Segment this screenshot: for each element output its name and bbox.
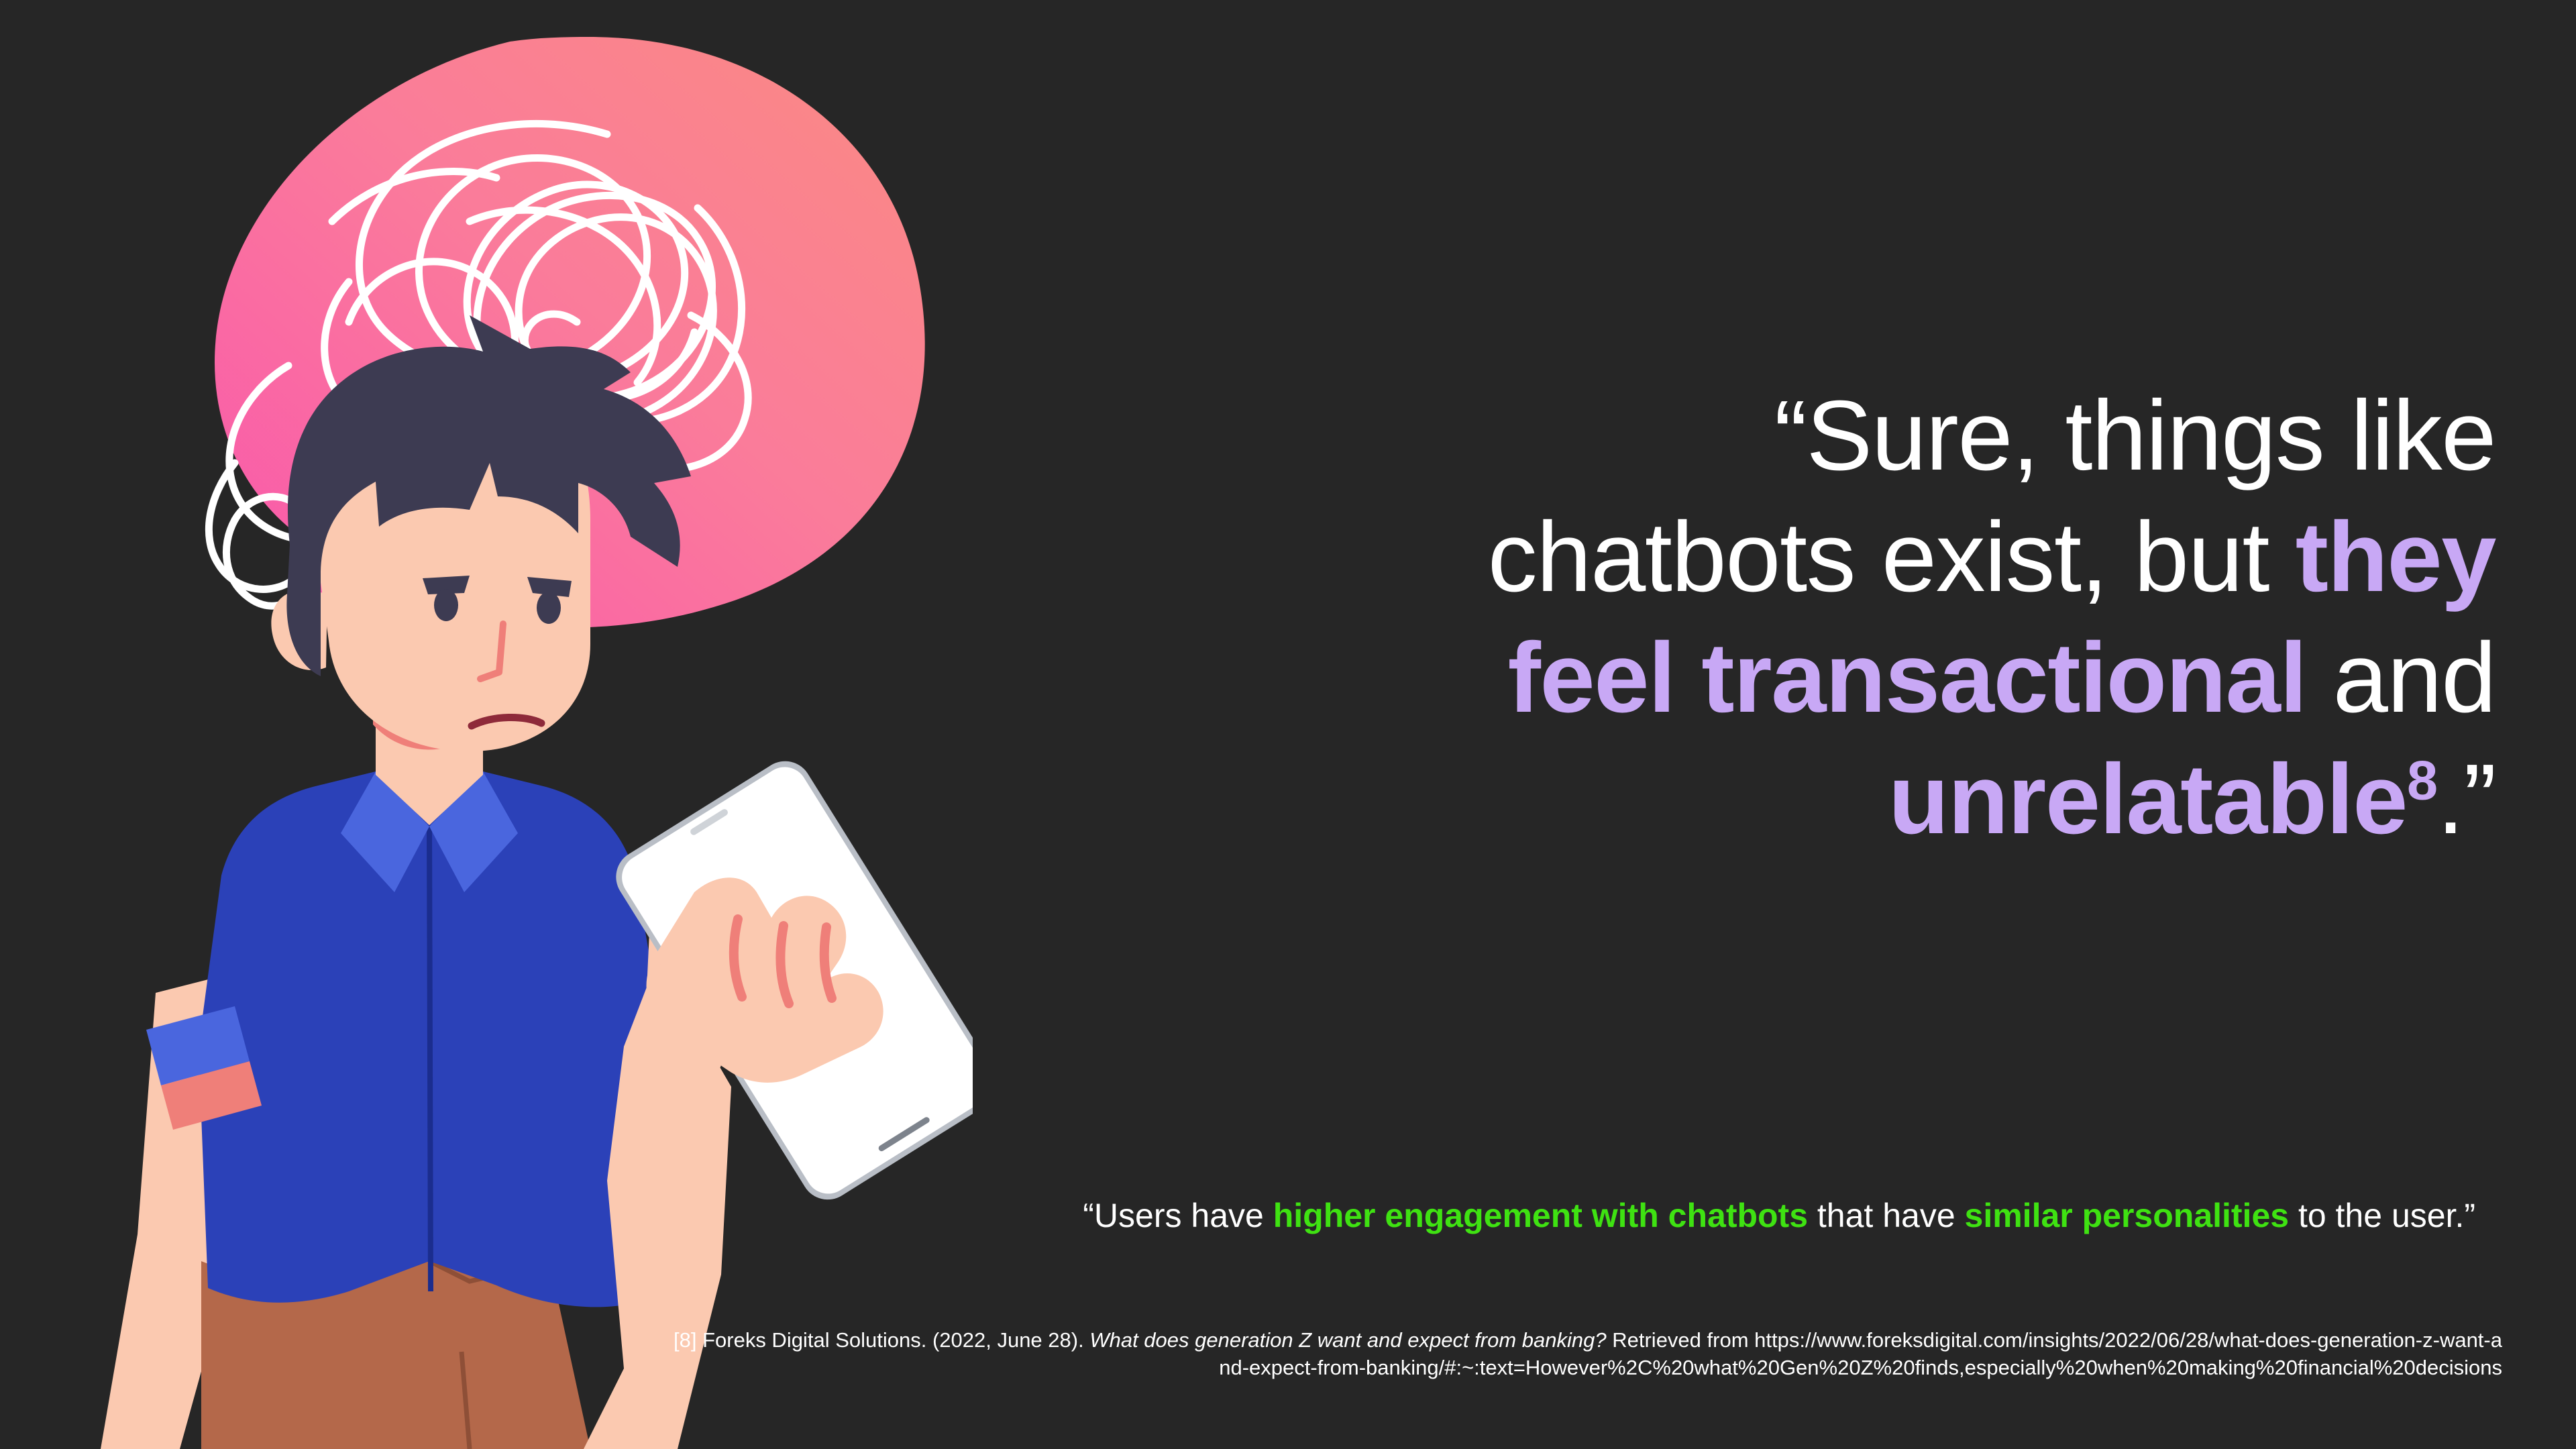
ear	[271, 590, 327, 669]
subquote-seg-1: “Users have	[1083, 1197, 1273, 1234]
neck	[376, 698, 483, 825]
quote-footnote-marker: 8	[2407, 749, 2437, 811]
supporting-quote: “Users have higher engagement with chatb…	[1046, 1194, 2475, 1237]
sleeve-cuff-right	[635, 1006, 726, 1085]
quote-line4-tail: .”	[2437, 744, 2495, 855]
smartphone	[606, 751, 973, 1210]
quote-line-4: unrelatable8.”	[1100, 739, 2495, 861]
nose	[480, 624, 503, 679]
subquote-highlight-2: similar personalities	[1965, 1197, 2290, 1234]
sleeve-trim-right	[625, 1060, 714, 1130]
collar-right	[429, 771, 518, 892]
right-forearm	[644, 892, 751, 1073]
subquote-highlight-1: higher engagement with chatbots	[1273, 1197, 1808, 1234]
citation-reference: [8] Foreks Digital Solutions. (2022, Jun…	[671, 1327, 2502, 1382]
quote-line-2: chatbots exist, but they	[1100, 497, 2495, 619]
eyebrow-left	[423, 576, 470, 594]
character-figure	[101, 315, 751, 1449]
shirt	[199, 771, 661, 1307]
slide-root: “Sure, things like chatbots exist, but t…	[0, 0, 2576, 1449]
quote-line-3: feel transactional and	[1100, 618, 2495, 739]
neck-shadow	[373, 698, 486, 750]
eye-right	[537, 592, 561, 624]
eyebrow-right	[527, 577, 572, 597]
mouth-frown	[472, 717, 541, 726]
illustration-frustrated-user	[0, 0, 973, 1449]
left-arm	[101, 976, 268, 1449]
quote-line1-text: “Sure, things like	[1774, 380, 2495, 491]
quote-line-1: “Sure, things like	[1100, 376, 2495, 497]
sleeve-trim-left	[161, 1061, 262, 1130]
pants	[201, 1261, 590, 1449]
quote-line3-highlight: feel transactional	[1508, 623, 2306, 733]
quote-line2-highlight: they	[2296, 502, 2495, 612]
subquote-seg-3: that have	[1808, 1197, 1965, 1234]
thought-bubble-icon	[209, 37, 924, 656]
collar-left	[341, 771, 429, 892]
hair	[286, 315, 691, 676]
citation-author: Foreks Digital Solutions. (2022, June 28…	[702, 1328, 1089, 1352]
quote-line3-plain: and	[2306, 623, 2495, 733]
quote-line2-plain: chatbots exist, but	[1488, 502, 2296, 612]
quote-line4-highlight: unrelatable	[1888, 744, 2407, 855]
sleeve-cuff-left	[146, 1006, 250, 1085]
main-quote: “Sure, things like chatbots exist, but t…	[1100, 376, 2495, 860]
citation-title: What does generation Z want and expect f…	[1089, 1328, 1606, 1352]
citation-marker: [8]	[674, 1328, 702, 1352]
subquote-seg-5: to the user.”	[2289, 1197, 2475, 1234]
face	[302, 362, 590, 751]
eye-left	[434, 589, 458, 621]
